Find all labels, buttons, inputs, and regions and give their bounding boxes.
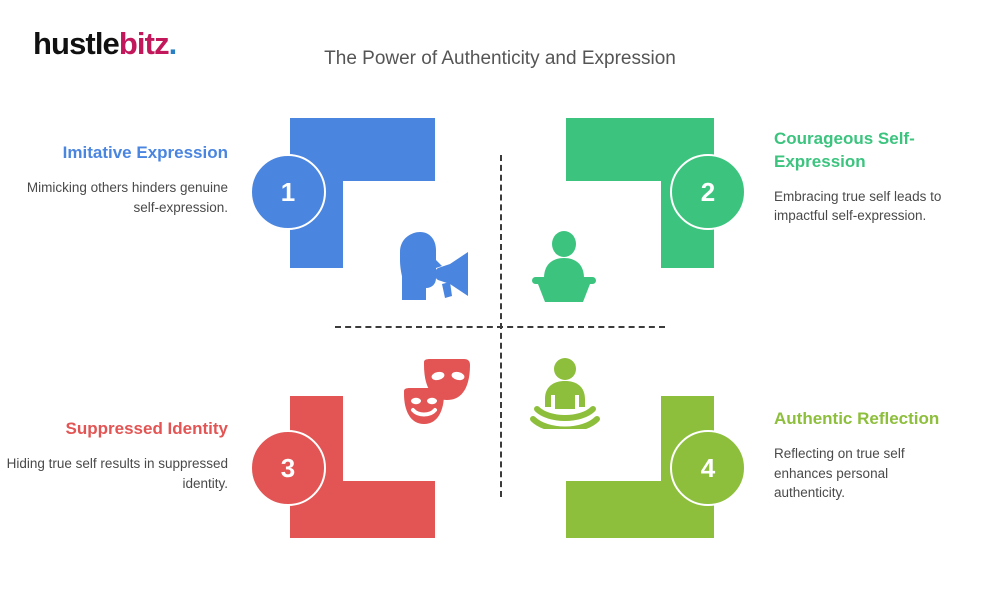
quadrant-1-number-badge[interactable]: 1 [250, 154, 326, 230]
quadrant-3-number: 3 [281, 455, 295, 481]
quadrant-3-number-badge[interactable]: 3 [250, 430, 326, 506]
infographic-canvas: hustlebitz. The Power of Authenticity an… [0, 0, 1000, 613]
quadrant-1-number: 1 [281, 179, 295, 205]
page-title: The Power of Authenticity and Expression [0, 48, 1000, 70]
quadrant-1-text: Imitative Expression Mimicking others hi… [0, 142, 228, 217]
quadrant-1-heading: Imitative Expression [0, 142, 228, 165]
meditating-person-icon [527, 357, 603, 429]
quadrant-2-heading: Courageous Self-Expression [774, 128, 954, 174]
quadrant-4-number: 4 [701, 455, 715, 481]
theater-masks-icon [400, 358, 476, 430]
divider-vertical [500, 155, 502, 497]
quadrant-2-text: Courageous Self-Expression Embracing tru… [774, 128, 954, 226]
quadrant-3-body: Hiding true self results in suppressed i… [0, 454, 228, 493]
quadrant-3-heading: Suppressed Identity [0, 418, 228, 441]
quadrant-4-number-badge[interactable]: 4 [670, 430, 746, 506]
quadrant-1-body: Mimicking others hinders genuine self-ex… [0, 178, 228, 217]
quadrant-2-number-badge[interactable]: 2 [670, 154, 746, 230]
quadrant-3-text: Suppressed Identity Hiding true self res… [0, 418, 228, 493]
quadrant-2-number: 2 [701, 179, 715, 205]
quadrant-4-text: Authentic Reflection Reflecting on true … [774, 408, 954, 503]
quadrant-2-body: Embracing true self leads to impactful s… [774, 187, 954, 226]
quadrant-4-body: Reflecting on true self enhances persona… [774, 444, 954, 503]
quadrant-4-heading: Authentic Reflection [774, 408, 954, 431]
head-megaphone-icon [392, 230, 472, 302]
person-podium-icon [527, 230, 601, 302]
